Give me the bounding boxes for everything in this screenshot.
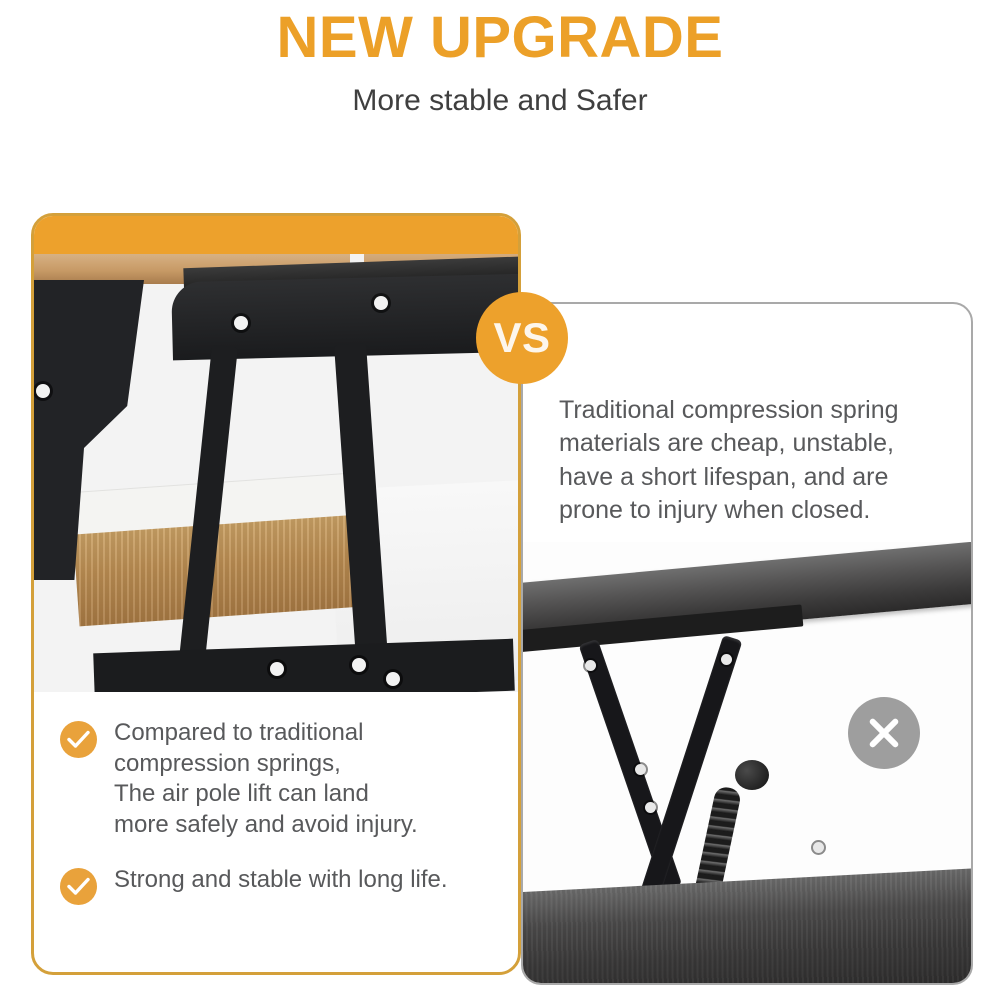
bullet-1-line-2: compression springs, xyxy=(114,749,418,780)
bullet-1-line-1: Compared to traditional xyxy=(114,718,418,749)
lower-mounting-rail xyxy=(93,639,515,692)
vs-badge: VS xyxy=(476,292,568,384)
infographic-page: NEW UPGRADE More stable and Safer Tradit… xyxy=(0,0,1000,1000)
right-card-description: Traditional compression spring materials… xyxy=(559,394,959,527)
rivet-icon xyxy=(585,660,596,671)
right-desc-line-4: prone to injury when closed. xyxy=(559,494,959,527)
rivet-icon xyxy=(374,296,388,310)
rivet-icon xyxy=(352,658,366,672)
rivet-icon xyxy=(234,316,248,330)
rivet-icon xyxy=(270,662,284,676)
check-icon xyxy=(60,868,97,905)
right-desc-line-1: Traditional compression spring xyxy=(559,394,959,427)
rivet-icon xyxy=(635,764,646,775)
bullet-text: Compared to traditional compression spri… xyxy=(114,718,418,841)
comparison-cards: Traditional compression spring materials… xyxy=(0,0,1000,1000)
right-desc-line-3: have a short lifespan, and are xyxy=(559,461,959,494)
pivot-bolt xyxy=(735,760,769,790)
left-comparison-card: Compared to traditional compression spri… xyxy=(31,213,521,975)
lower-wood-panel xyxy=(523,864,971,985)
compression-spring-photo xyxy=(523,542,971,985)
wood-shelf-panel xyxy=(73,514,379,627)
air-pole-lift-photo xyxy=(34,254,518,692)
rivet-icon xyxy=(721,654,732,665)
bullet-text: Strong and stable with long life. xyxy=(114,865,448,896)
right-comparison-card: Traditional compression spring materials… xyxy=(521,302,973,985)
right-desc-line-2: materials are cheap, unstable, xyxy=(559,427,959,460)
bullet-2-line-1: Strong and stable with long life. xyxy=(114,865,448,896)
rivet-icon xyxy=(36,384,50,398)
rivet-icon xyxy=(386,672,400,686)
left-card-top-bar xyxy=(34,216,518,254)
rivet-icon xyxy=(645,802,656,813)
bullet-item: Strong and stable with long life. xyxy=(34,865,518,905)
left-card-bullets: Compared to traditional compression spri… xyxy=(34,692,518,929)
close-icon xyxy=(848,697,920,769)
bullet-1-line-3: The air pole lift can land xyxy=(114,779,418,810)
rivet-icon xyxy=(813,842,824,853)
check-icon xyxy=(60,721,97,758)
bullet-item: Compared to traditional compression spri… xyxy=(34,718,518,841)
bullet-1-line-4: more safely and avoid injury. xyxy=(114,810,418,841)
